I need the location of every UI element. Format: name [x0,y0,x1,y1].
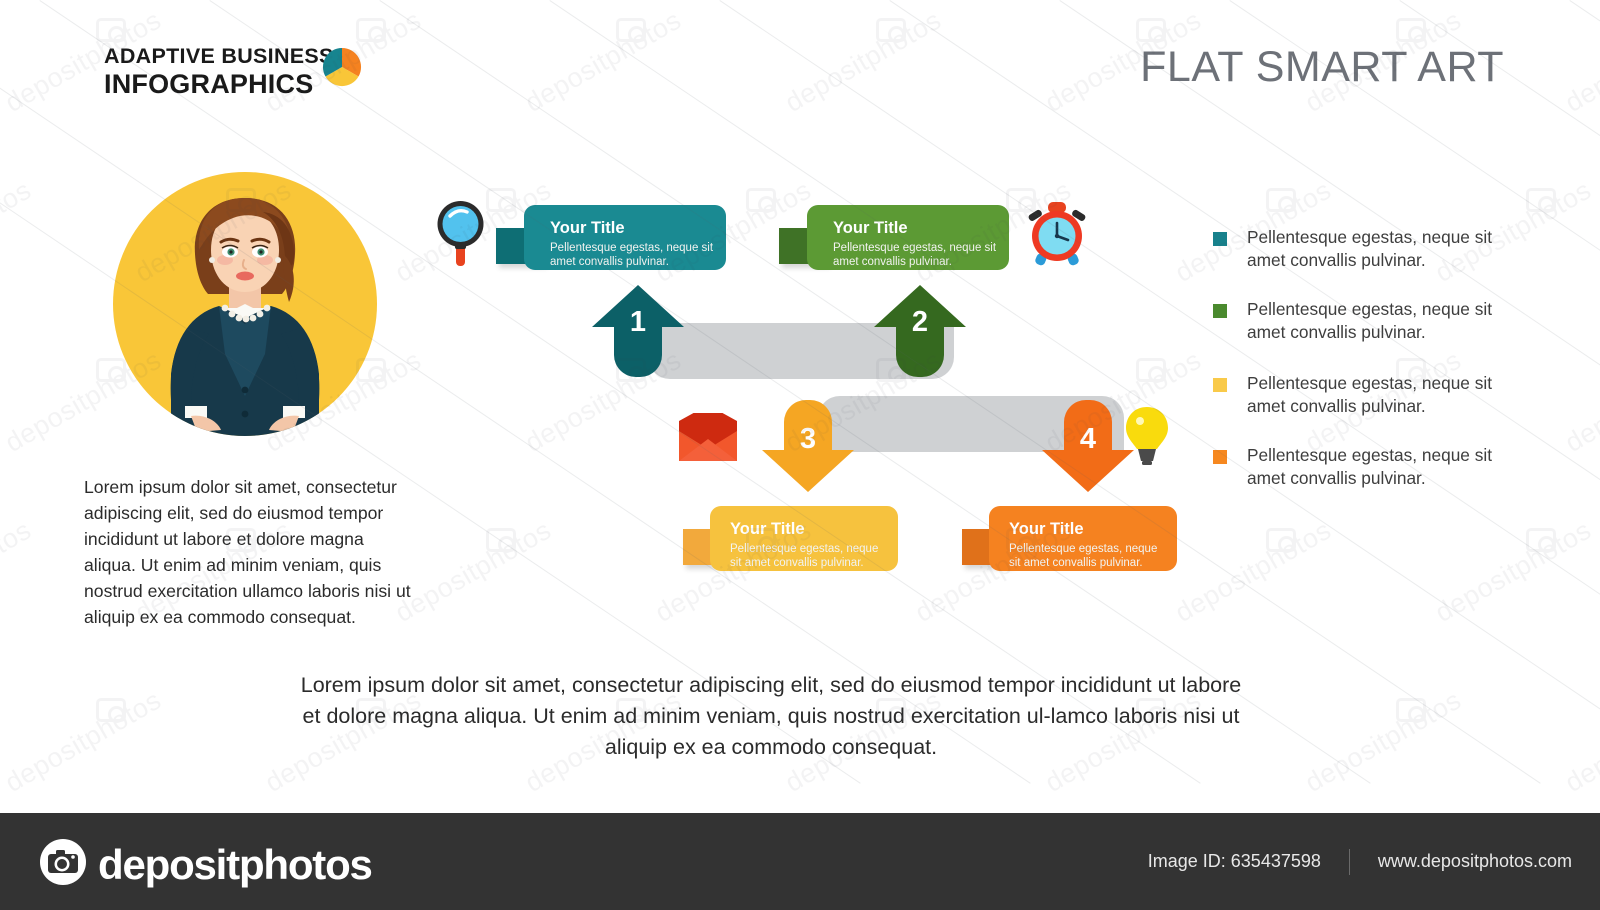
watermark-text: depositphotos [390,515,557,629]
watermark-tile: depositphotos [1430,0,1600,30]
camera-icon [1266,528,1296,552]
watermark-text: depositphotos [0,175,37,289]
camera-icon [1396,18,1426,42]
camera-icon [486,188,516,212]
watermark-tile: depositphotos [1430,510,1600,710]
footer-divider [1349,849,1350,875]
envelope-icon [679,413,737,466]
card-3-title: Your Title [730,519,886,539]
depositphotos-logo[interactable]: depositphotos [40,839,372,890]
camera-icon [876,18,906,42]
watermark-text: depositphotos [0,515,37,629]
legend-swatch-2 [1213,304,1227,318]
camera-icon [1526,528,1556,552]
watermark-tile: depositphotos [780,0,980,200]
camera-icon [1396,698,1426,722]
camera-icon [96,18,126,42]
card-2-title: Your Title [833,218,997,238]
magnifying-glass-icon [436,200,488,275]
step-number-1: 1 [608,306,668,339]
card-3[interactable]: Your Title Pellentesque egestas, neque s… [710,506,898,571]
card-3-body: Pellentesque egestas, neque sit amet con… [730,542,886,570]
card-2[interactable]: Your Title Pellentesque egestas, neque s… [807,205,1009,270]
watermark-text: depositphotos [1430,515,1597,629]
camera-icon [40,839,86,890]
card-4-title: Your Title [1009,519,1165,539]
alarm-clock-icon [1024,200,1090,273]
camera-icon [1136,18,1166,42]
legend-text-2: Pellentesque egestas, neque sit amet con… [1247,298,1513,344]
legend-text-3: Pellentesque egestas, neque sit amet con… [1247,372,1513,418]
watermark-tile: depositphotos [390,0,590,30]
watermark-tile: depositphotos [1560,0,1600,200]
step-number-3: 3 [778,423,838,456]
pie-chart-icon [322,47,362,92]
watermark-tile: depositphotos [0,0,70,30]
card-1-body: Pellentesque egestas, neque sit amet con… [550,241,714,269]
watermark-tile: depositphotos [130,0,330,30]
card-1-title: Your Title [550,218,714,238]
watermark-text: depositphotos [0,685,167,799]
camera-icon [96,698,126,722]
bottom-paragraph: Lorem ipsum dolor sit amet, consectetur … [296,670,1246,763]
watermark-tile: depositphotos [0,170,70,370]
card-4-body: Pellentesque egestas, neque sit amet con… [1009,542,1165,570]
footer-bar: depositphotos Image ID: 635437598 www.de… [0,813,1600,910]
legend-swatch-1 [1213,232,1227,246]
watermark-hairline [209,0,1370,784]
logo-line-1: ADAPTIVE BUSINESS [104,44,334,69]
lightbulb-icon [1124,405,1170,472]
legend-text-4: Pellentesque egestas, neque sit amet con… [1247,444,1513,490]
watermark-text: depositphotos [1300,685,1467,799]
watermark-tile: depositphotos [910,0,1110,30]
legend-item-4[interactable]: Pellentesque egestas, neque sit amet con… [1213,444,1513,490]
watermark-tile: depositphotos [0,510,70,710]
camera-icon [1266,188,1296,212]
watermark-text: depositphotos [1560,685,1600,799]
camera-icon [746,188,776,212]
card-2-body: Pellentesque egestas, neque sit amet con… [833,241,997,269]
camera-icon [1136,358,1166,382]
legend: Pellentesque egestas, neque sit amet con… [1213,226,1513,516]
watermark-text: depositphotos [1560,345,1600,459]
watermark-tile: depositphotos [1300,0,1500,200]
watermark-text: depositphotos [780,5,947,119]
legend-item-3[interactable]: Pellentesque egestas, neque sit amet con… [1213,372,1513,418]
watermark-tile: depositphotos [1560,340,1600,540]
website-link[interactable]: www.depositphotos.com [1378,851,1572,872]
camera-icon [486,528,516,552]
camera-icon [616,18,646,42]
card-1[interactable]: Your Title Pellentesque egestas, neque s… [524,205,726,270]
step-number-2: 2 [890,306,950,339]
page-title: FLAT SMART ART [1140,43,1504,92]
logo-line-2: INFOGRAPHICS [104,69,334,99]
watermark-text: depositphotos [1170,515,1337,629]
card-4[interactable]: Your Title Pellentesque egestas, neque s… [989,506,1177,571]
legend-swatch-3 [1213,378,1227,392]
brand-logo: ADAPTIVE BUSINESS INFOGRAPHICS [104,44,334,99]
legend-item-1[interactable]: Pellentesque egestas, neque sit amet con… [1213,226,1513,272]
camera-icon [1526,188,1556,212]
watermark-tile: depositphotos [1040,0,1240,200]
legend-item-2[interactable]: Pellentesque egestas, neque sit amet con… [1213,298,1513,344]
person-caption-text: Lorem ipsum dolor sit amet, consectetur … [84,474,414,630]
watermark-tile: depositphotos [650,0,850,30]
watermark-tile: depositphotos [520,0,720,200]
step-number-4: 4 [1058,423,1118,456]
legend-swatch-4 [1213,450,1227,464]
image-id-label: Image ID: 635437598 [1148,851,1321,872]
businesswoman-avatar [113,168,377,440]
infographic-slide: depositphotosdepositphotosdepositphotosd… [0,0,1600,910]
watermark-hairline [1569,0,1600,784]
legend-text-1: Pellentesque egestas, neque sit amet con… [1247,226,1513,272]
footer-meta: Image ID: 635437598 www.depositphotos.co… [1148,813,1572,910]
watermark-tile: depositphotos [1170,0,1370,30]
watermark-text: depositphotos [1560,5,1600,119]
footer-logo-text: depositphotos [98,843,372,887]
camera-icon [356,18,386,42]
watermark-text: depositphotos [520,5,687,119]
